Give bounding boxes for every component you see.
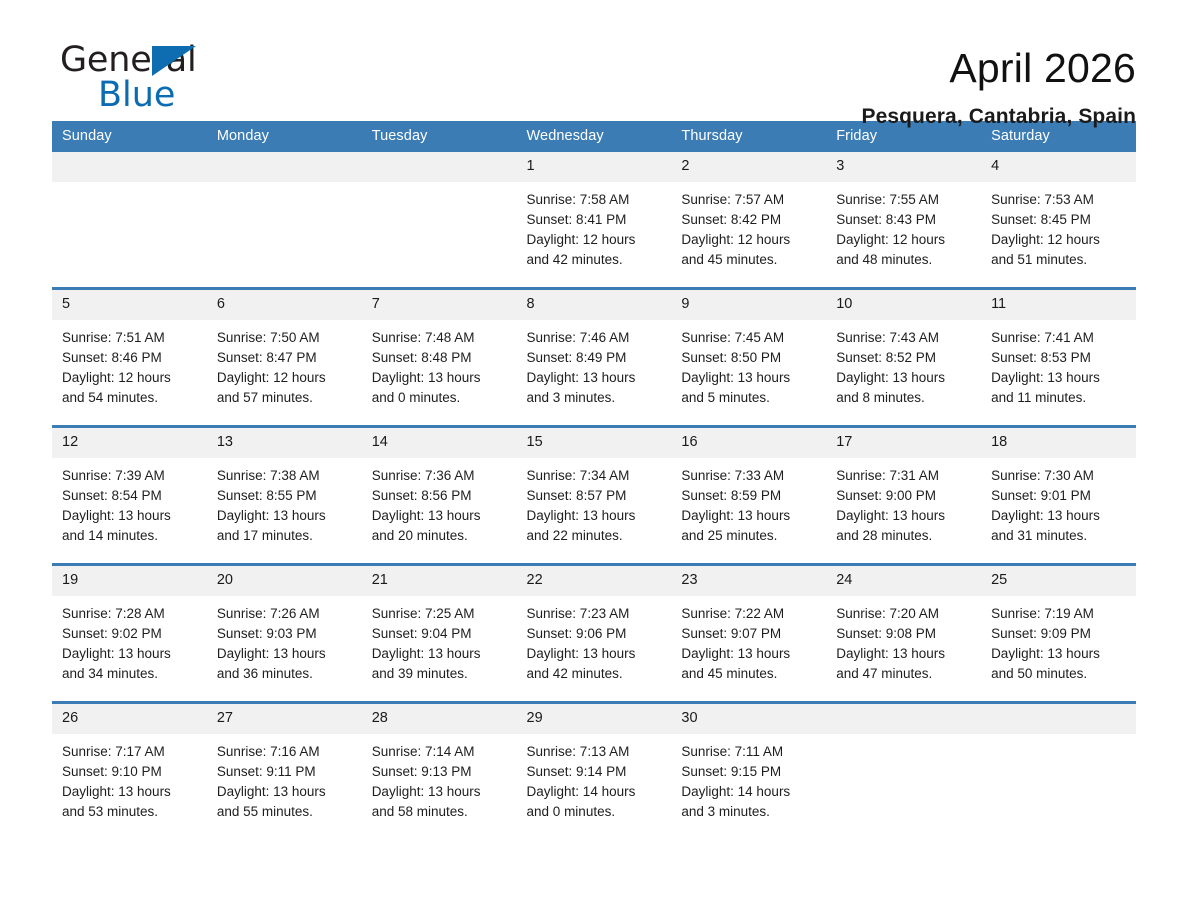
calendar-table: SundayMondayTuesdayWednesdayThursdayFrid… — [52, 121, 1136, 839]
title-block: April 2026 Pesquera, Cantabria, Spain — [861, 42, 1136, 130]
day-number: 23 — [671, 566, 826, 596]
day-info-line: Sunrise: 7:30 AM — [991, 466, 1128, 486]
day-number — [826, 704, 981, 734]
day-info-line: Daylight: 13 hours — [372, 782, 509, 802]
day-info-line: Sunset: 8:49 PM — [527, 348, 664, 368]
day-info-line: and 8 minutes. — [836, 388, 973, 408]
day-number: 27 — [207, 704, 362, 734]
day-info-line: and 34 minutes. — [62, 664, 199, 684]
day-info-line: Sunset: 8:47 PM — [217, 348, 354, 368]
day-info-line: and 31 minutes. — [991, 526, 1128, 546]
page-header: General Blue April 2026 Pesquera, Cantab… — [52, 0, 1136, 108]
day-info-line: Sunset: 8:41 PM — [527, 210, 664, 230]
day-info-line: Sunset: 9:06 PM — [527, 624, 664, 644]
day-info-line: Sunset: 9:02 PM — [62, 624, 199, 644]
day-sun-info: Sunrise: 7:43 AMSunset: 8:52 PMDaylight:… — [826, 320, 981, 408]
calendar-day-cell[interactable]: 21Sunrise: 7:25 AMSunset: 9:04 PMDayligh… — [362, 565, 517, 703]
day-info-line: Sunrise: 7:58 AM — [527, 190, 664, 210]
day-sun-info: Sunrise: 7:28 AMSunset: 9:02 PMDaylight:… — [52, 596, 207, 684]
calendar-empty-cell — [52, 152, 207, 289]
day-info-line: Sunset: 9:01 PM — [991, 486, 1128, 506]
day-number: 18 — [981, 428, 1136, 458]
day-info-line: Sunrise: 7:22 AM — [681, 604, 818, 624]
day-sun-info: Sunrise: 7:58 AMSunset: 8:41 PMDaylight:… — [517, 182, 672, 270]
calendar-day-cell[interactable]: 25Sunrise: 7:19 AMSunset: 9:09 PMDayligh… — [981, 565, 1136, 703]
day-info-line: and 42 minutes. — [527, 250, 664, 270]
day-number: 6 — [207, 290, 362, 320]
day-sun-info: Sunrise: 7:20 AMSunset: 9:08 PMDaylight:… — [826, 596, 981, 684]
day-info-line: Sunset: 8:48 PM — [372, 348, 509, 368]
calendar-day-cell[interactable]: 23Sunrise: 7:22 AMSunset: 9:07 PMDayligh… — [671, 565, 826, 703]
day-info-line: Sunrise: 7:51 AM — [62, 328, 199, 348]
day-info-line: and 28 minutes. — [836, 526, 973, 546]
day-number: 24 — [826, 566, 981, 596]
day-info-line: Sunset: 9:09 PM — [991, 624, 1128, 644]
day-info-line: Sunrise: 7:25 AM — [372, 604, 509, 624]
calendar-day-cell[interactable]: 30Sunrise: 7:11 AMSunset: 9:15 PMDayligh… — [671, 703, 826, 840]
day-info-line: Sunrise: 7:28 AM — [62, 604, 199, 624]
day-sun-info: Sunrise: 7:39 AMSunset: 8:54 PMDaylight:… — [52, 458, 207, 546]
day-info-line: and 55 minutes. — [217, 802, 354, 822]
day-info-line: and 11 minutes. — [991, 388, 1128, 408]
day-info-line: Sunrise: 7:43 AM — [836, 328, 973, 348]
calendar-week-row: 12Sunrise: 7:39 AMSunset: 8:54 PMDayligh… — [52, 427, 1136, 565]
day-info-line: and 50 minutes. — [991, 664, 1128, 684]
day-info-line: Daylight: 13 hours — [527, 368, 664, 388]
day-sun-info: Sunrise: 7:53 AMSunset: 8:45 PMDaylight:… — [981, 182, 1136, 270]
day-info-line: Sunrise: 7:39 AM — [62, 466, 199, 486]
day-number: 4 — [981, 152, 1136, 182]
day-info-line: Daylight: 13 hours — [217, 782, 354, 802]
logo-triangle-icon — [152, 46, 196, 76]
day-info-line: Daylight: 13 hours — [217, 644, 354, 664]
day-number: 2 — [671, 152, 826, 182]
weekday-header-thursday: Thursday — [671, 121, 826, 152]
day-info-line: and 22 minutes. — [527, 526, 664, 546]
day-info-line: and 51 minutes. — [991, 250, 1128, 270]
day-info-line: Daylight: 13 hours — [836, 368, 973, 388]
day-info-line: Sunset: 8:43 PM — [836, 210, 973, 230]
day-info-line: Daylight: 13 hours — [62, 506, 199, 526]
day-info-line: and 3 minutes. — [527, 388, 664, 408]
day-info-line: Daylight: 13 hours — [681, 644, 818, 664]
calendar-day-cell[interactable]: 17Sunrise: 7:31 AMSunset: 9:00 PMDayligh… — [826, 427, 981, 565]
day-info-line: Sunrise: 7:34 AM — [527, 466, 664, 486]
day-info-line: Sunrise: 7:17 AM — [62, 742, 199, 762]
calendar-day-cell[interactable]: 14Sunrise: 7:36 AMSunset: 8:56 PMDayligh… — [362, 427, 517, 565]
day-info-line: Sunrise: 7:26 AM — [217, 604, 354, 624]
day-info-line: and 45 minutes. — [681, 664, 818, 684]
day-info-line: Sunrise: 7:23 AM — [527, 604, 664, 624]
day-info-line: Daylight: 12 hours — [527, 230, 664, 250]
day-info-line: Daylight: 14 hours — [681, 782, 818, 802]
day-sun-info: Sunrise: 7:26 AMSunset: 9:03 PMDaylight:… — [207, 596, 362, 684]
calendar-day-cell[interactable]: 9Sunrise: 7:45 AMSunset: 8:50 PMDaylight… — [671, 289, 826, 427]
calendar-day-cell[interactable]: 13Sunrise: 7:38 AMSunset: 8:55 PMDayligh… — [207, 427, 362, 565]
day-info-line: Sunrise: 7:20 AM — [836, 604, 973, 624]
day-info-line: Sunset: 8:57 PM — [527, 486, 664, 506]
day-sun-info: Sunrise: 7:50 AMSunset: 8:47 PMDaylight:… — [207, 320, 362, 408]
day-info-line: Sunset: 8:53 PM — [991, 348, 1128, 368]
day-sun-info: Sunrise: 7:23 AMSunset: 9:06 PMDaylight:… — [517, 596, 672, 684]
day-info-line: Daylight: 13 hours — [527, 506, 664, 526]
day-info-line: Daylight: 13 hours — [372, 506, 509, 526]
day-info-line: and 48 minutes. — [836, 250, 973, 270]
day-info-line: Sunrise: 7:48 AM — [372, 328, 509, 348]
day-sun-info: Sunrise: 7:33 AMSunset: 8:59 PMDaylight:… — [671, 458, 826, 546]
day-sun-info: Sunrise: 7:19 AMSunset: 9:09 PMDaylight:… — [981, 596, 1136, 684]
day-info-line: Daylight: 13 hours — [681, 506, 818, 526]
calendar-empty-cell — [207, 152, 362, 289]
day-number: 3 — [826, 152, 981, 182]
weekday-header-monday: Monday — [207, 121, 362, 152]
day-info-line: Daylight: 12 hours — [991, 230, 1128, 250]
day-number: 7 — [362, 290, 517, 320]
day-sun-info: Sunrise: 7:36 AMSunset: 8:56 PMDaylight:… — [362, 458, 517, 546]
day-info-line: Sunset: 8:59 PM — [681, 486, 818, 506]
day-info-line: Sunrise: 7:53 AM — [991, 190, 1128, 210]
day-info-line: and 36 minutes. — [217, 664, 354, 684]
weekday-header-tuesday: Tuesday — [362, 121, 517, 152]
calendar-empty-cell — [362, 152, 517, 289]
day-info-line: Sunrise: 7:55 AM — [836, 190, 973, 210]
day-number: 22 — [517, 566, 672, 596]
day-info-line: Daylight: 13 hours — [991, 644, 1128, 664]
day-info-line: Sunrise: 7:46 AM — [527, 328, 664, 348]
day-info-line: and 3 minutes. — [681, 802, 818, 822]
calendar-day-cell[interactable]: 15Sunrise: 7:34 AMSunset: 8:57 PMDayligh… — [517, 427, 672, 565]
calendar-day-cell[interactable]: 7Sunrise: 7:48 AMSunset: 8:48 PMDaylight… — [362, 289, 517, 427]
day-info-line: Daylight: 13 hours — [836, 644, 973, 664]
day-info-line: Sunset: 8:55 PM — [217, 486, 354, 506]
day-info-line: and 42 minutes. — [527, 664, 664, 684]
day-info-line: Sunrise: 7:11 AM — [681, 742, 818, 762]
day-info-line: Daylight: 13 hours — [372, 368, 509, 388]
day-number: 20 — [207, 566, 362, 596]
day-info-line: and 57 minutes. — [217, 388, 354, 408]
calendar-body: 1Sunrise: 7:58 AMSunset: 8:41 PMDaylight… — [52, 152, 1136, 839]
day-info-line: Daylight: 14 hours — [527, 782, 664, 802]
day-number: 17 — [826, 428, 981, 458]
location-subtitle: Pesquera, Cantabria, Spain — [861, 104, 1136, 130]
day-info-line: Daylight: 13 hours — [681, 368, 818, 388]
calendar-day-cell[interactable]: 20Sunrise: 7:26 AMSunset: 9:03 PMDayligh… — [207, 565, 362, 703]
calendar-week-row: 26Sunrise: 7:17 AMSunset: 9:10 PMDayligh… — [52, 703, 1136, 840]
day-info-line: Sunrise: 7:57 AM — [681, 190, 818, 210]
day-info-line: Sunrise: 7:31 AM — [836, 466, 973, 486]
day-number: 28 — [362, 704, 517, 734]
day-info-line: Sunrise: 7:36 AM — [372, 466, 509, 486]
day-info-line: Sunset: 9:13 PM — [372, 762, 509, 782]
day-number — [981, 704, 1136, 734]
day-info-line: Daylight: 13 hours — [62, 782, 199, 802]
day-info-line: and 58 minutes. — [372, 802, 509, 822]
day-number — [52, 152, 207, 182]
day-sun-info: Sunrise: 7:13 AMSunset: 9:14 PMDaylight:… — [517, 734, 672, 822]
day-info-line: Sunrise: 7:41 AM — [991, 328, 1128, 348]
day-sun-info: Sunrise: 7:46 AMSunset: 8:49 PMDaylight:… — [517, 320, 672, 408]
day-info-line: Sunset: 8:56 PM — [372, 486, 509, 506]
calendar-day-cell[interactable]: 12Sunrise: 7:39 AMSunset: 8:54 PMDayligh… — [52, 427, 207, 565]
day-info-line: and 0 minutes. — [527, 802, 664, 822]
day-info-line: Sunrise: 7:14 AM — [372, 742, 509, 762]
day-number: 14 — [362, 428, 517, 458]
page-title: April 2026 — [861, 44, 1136, 92]
calendar-day-cell[interactable]: 28Sunrise: 7:14 AMSunset: 9:13 PMDayligh… — [362, 703, 517, 840]
calendar-day-cell[interactable]: 18Sunrise: 7:30 AMSunset: 9:01 PMDayligh… — [981, 427, 1136, 565]
day-number: 11 — [981, 290, 1136, 320]
day-info-line: Daylight: 13 hours — [372, 644, 509, 664]
day-info-line: Sunset: 9:03 PM — [217, 624, 354, 644]
day-info-line: Sunrise: 7:33 AM — [681, 466, 818, 486]
day-info-line: Sunrise: 7:13 AM — [527, 742, 664, 762]
day-info-line: and 14 minutes. — [62, 526, 199, 546]
day-sun-info: Sunrise: 7:45 AMSunset: 8:50 PMDaylight:… — [671, 320, 826, 408]
calendar-page: General Blue April 2026 Pesquera, Cantab… — [0, 0, 1188, 918]
day-info-line: Sunset: 8:42 PM — [681, 210, 818, 230]
calendar-day-cell[interactable]: 10Sunrise: 7:43 AMSunset: 8:52 PMDayligh… — [826, 289, 981, 427]
day-number: 1 — [517, 152, 672, 182]
day-sun-info: Sunrise: 7:22 AMSunset: 9:07 PMDaylight:… — [671, 596, 826, 684]
calendar-day-cell[interactable]: 22Sunrise: 7:23 AMSunset: 9:06 PMDayligh… — [517, 565, 672, 703]
day-info-line: Sunrise: 7:38 AM — [217, 466, 354, 486]
day-number — [207, 152, 362, 182]
day-sun-info: Sunrise: 7:31 AMSunset: 9:00 PMDaylight:… — [826, 458, 981, 546]
day-info-line: Daylight: 12 hours — [681, 230, 818, 250]
calendar-day-cell[interactable]: 29Sunrise: 7:13 AMSunset: 9:14 PMDayligh… — [517, 703, 672, 840]
calendar-day-cell[interactable]: 27Sunrise: 7:16 AMSunset: 9:11 PMDayligh… — [207, 703, 362, 840]
day-number: 19 — [52, 566, 207, 596]
calendar-week-row: 5Sunrise: 7:51 AMSunset: 8:46 PMDaylight… — [52, 289, 1136, 427]
day-sun-info: Sunrise: 7:11 AMSunset: 9:15 PMDaylight:… — [671, 734, 826, 822]
day-number: 30 — [671, 704, 826, 734]
day-info-line: Sunset: 9:04 PM — [372, 624, 509, 644]
day-number: 5 — [52, 290, 207, 320]
day-number: 10 — [826, 290, 981, 320]
day-number: 13 — [207, 428, 362, 458]
day-info-line: and 5 minutes. — [681, 388, 818, 408]
day-sun-info: Sunrise: 7:57 AMSunset: 8:42 PMDaylight:… — [671, 182, 826, 270]
day-number: 8 — [517, 290, 672, 320]
day-number: 9 — [671, 290, 826, 320]
day-number — [362, 152, 517, 182]
day-info-line: Sunset: 8:52 PM — [836, 348, 973, 368]
day-number: 26 — [52, 704, 207, 734]
day-number: 16 — [671, 428, 826, 458]
calendar-day-cell[interactable]: 2Sunrise: 7:57 AMSunset: 8:42 PMDaylight… — [671, 152, 826, 289]
day-info-line: Daylight: 13 hours — [991, 506, 1128, 526]
calendar-day-cell[interactable]: 1Sunrise: 7:58 AMSunset: 8:41 PMDaylight… — [517, 152, 672, 289]
day-sun-info: Sunrise: 7:17 AMSunset: 9:10 PMDaylight:… — [52, 734, 207, 822]
calendar-day-cell[interactable]: 5Sunrise: 7:51 AMSunset: 8:46 PMDaylight… — [52, 289, 207, 427]
day-info-line: Sunset: 9:00 PM — [836, 486, 973, 506]
day-info-line: and 54 minutes. — [62, 388, 199, 408]
logo-text-blue: Blue — [98, 78, 252, 112]
day-info-line: and 39 minutes. — [372, 664, 509, 684]
day-info-line: Sunset: 8:50 PM — [681, 348, 818, 368]
calendar-day-cell[interactable]: 26Sunrise: 7:17 AMSunset: 9:10 PMDayligh… — [52, 703, 207, 840]
day-sun-info: Sunrise: 7:38 AMSunset: 8:55 PMDaylight:… — [207, 458, 362, 546]
generalblue-logo[interactable]: General Blue — [52, 42, 252, 116]
day-sun-info: Sunrise: 7:48 AMSunset: 8:48 PMDaylight:… — [362, 320, 517, 408]
day-number: 25 — [981, 566, 1136, 596]
day-info-line: Sunrise: 7:19 AM — [991, 604, 1128, 624]
day-info-line: and 45 minutes. — [681, 250, 818, 270]
day-sun-info: Sunrise: 7:30 AMSunset: 9:01 PMDaylight:… — [981, 458, 1136, 546]
day-sun-info: Sunrise: 7:41 AMSunset: 8:53 PMDaylight:… — [981, 320, 1136, 408]
day-info-line: and 20 minutes. — [372, 526, 509, 546]
day-info-line: Sunrise: 7:16 AM — [217, 742, 354, 762]
day-sun-info: Sunrise: 7:34 AMSunset: 8:57 PMDaylight:… — [517, 458, 672, 546]
calendar-day-cell[interactable]: 19Sunrise: 7:28 AMSunset: 9:02 PMDayligh… — [52, 565, 207, 703]
day-sun-info: Sunrise: 7:25 AMSunset: 9:04 PMDaylight:… — [362, 596, 517, 684]
day-sun-info: Sunrise: 7:51 AMSunset: 8:46 PMDaylight:… — [52, 320, 207, 408]
day-info-line: and 53 minutes. — [62, 802, 199, 822]
day-info-line: Sunset: 9:10 PM — [62, 762, 199, 782]
day-sun-info: Sunrise: 7:14 AMSunset: 9:13 PMDaylight:… — [362, 734, 517, 822]
day-info-line: Daylight: 12 hours — [836, 230, 973, 250]
day-info-line: Sunset: 8:46 PM — [62, 348, 199, 368]
day-info-line: Sunset: 8:45 PM — [991, 210, 1128, 230]
day-info-line: Sunset: 9:08 PM — [836, 624, 973, 644]
day-info-line: Daylight: 12 hours — [217, 368, 354, 388]
day-info-line: and 47 minutes. — [836, 664, 973, 684]
day-info-line: and 0 minutes. — [372, 388, 509, 408]
day-info-line: Sunset: 9:11 PM — [217, 762, 354, 782]
day-info-line: Daylight: 13 hours — [217, 506, 354, 526]
calendar-day-cell[interactable]: 24Sunrise: 7:20 AMSunset: 9:08 PMDayligh… — [826, 565, 981, 703]
day-info-line: Sunrise: 7:50 AM — [217, 328, 354, 348]
day-info-line: Sunrise: 7:45 AM — [681, 328, 818, 348]
day-info-line: Daylight: 13 hours — [991, 368, 1128, 388]
day-number: 15 — [517, 428, 672, 458]
day-info-line: Daylight: 13 hours — [527, 644, 664, 664]
day-sun-info: Sunrise: 7:16 AMSunset: 9:11 PMDaylight:… — [207, 734, 362, 822]
day-info-line: Daylight: 13 hours — [836, 506, 973, 526]
calendar-week-row: 19Sunrise: 7:28 AMSunset: 9:02 PMDayligh… — [52, 565, 1136, 703]
calendar-empty-cell — [826, 703, 981, 840]
day-info-line: and 17 minutes. — [217, 526, 354, 546]
day-number: 21 — [362, 566, 517, 596]
day-info-line: Sunset: 9:14 PM — [527, 762, 664, 782]
calendar-day-cell[interactable]: 6Sunrise: 7:50 AMSunset: 8:47 PMDaylight… — [207, 289, 362, 427]
calendar-day-cell[interactable]: 11Sunrise: 7:41 AMSunset: 8:53 PMDayligh… — [981, 289, 1136, 427]
day-info-line: and 25 minutes. — [681, 526, 818, 546]
weekday-header-wednesday: Wednesday — [517, 121, 672, 152]
day-info-line: Sunset: 9:07 PM — [681, 624, 818, 644]
calendar-day-cell[interactable]: 4Sunrise: 7:53 AMSunset: 8:45 PMDaylight… — [981, 152, 1136, 289]
weekday-header-sunday: Sunday — [52, 121, 207, 152]
day-sun-info: Sunrise: 7:55 AMSunset: 8:43 PMDaylight:… — [826, 182, 981, 270]
day-number: 12 — [52, 428, 207, 458]
calendar-week-row: 1Sunrise: 7:58 AMSunset: 8:41 PMDaylight… — [52, 152, 1136, 289]
day-info-line: Sunset: 9:15 PM — [681, 762, 818, 782]
day-info-line: Daylight: 12 hours — [62, 368, 199, 388]
calendar-day-cell[interactable]: 16Sunrise: 7:33 AMSunset: 8:59 PMDayligh… — [671, 427, 826, 565]
day-info-line: Daylight: 13 hours — [62, 644, 199, 664]
day-info-line: Sunset: 8:54 PM — [62, 486, 199, 506]
day-number: 29 — [517, 704, 672, 734]
calendar-empty-cell — [981, 703, 1136, 840]
calendar-day-cell[interactable]: 3Sunrise: 7:55 AMSunset: 8:43 PMDaylight… — [826, 152, 981, 289]
calendar-day-cell[interactable]: 8Sunrise: 7:46 AMSunset: 8:49 PMDaylight… — [517, 289, 672, 427]
